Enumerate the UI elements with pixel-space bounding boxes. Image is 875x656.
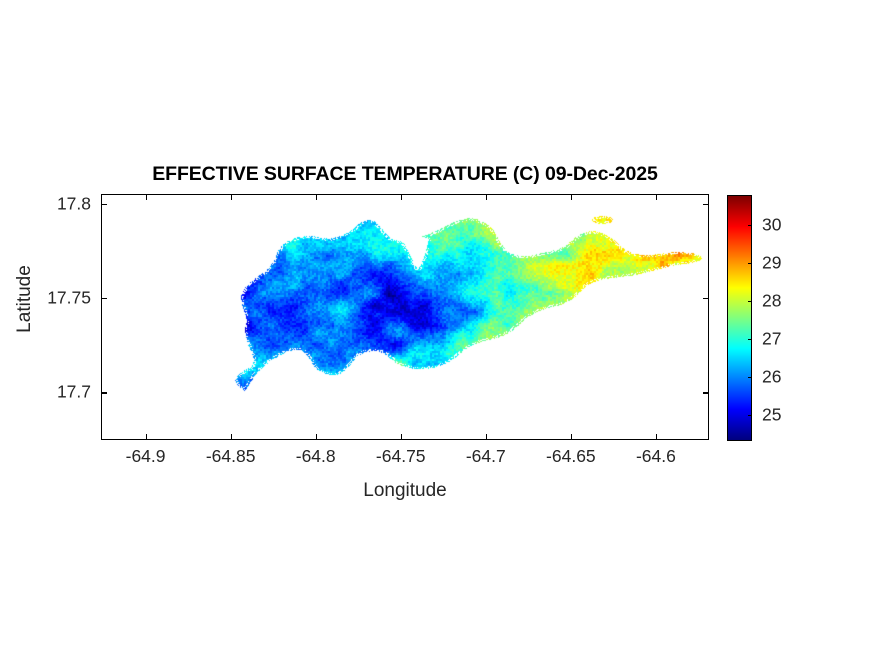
matlab-figure: EFFECTIVE SURFACE TEMPERATURE (C) 09-Dec…: [0, 0, 875, 656]
colorbar-tick-mark: [748, 377, 752, 378]
colorbar-tick-mark: [748, 225, 752, 226]
x-axis-label: Longitude: [101, 480, 709, 502]
colorbar-tick-mark: [748, 339, 752, 340]
x-tick-mark: [401, 434, 402, 440]
colorbar-tick-label: 30: [762, 214, 781, 235]
colorbar-tick-label: 28: [762, 290, 781, 311]
x-tick-mark: [571, 434, 572, 440]
colorbar-gradient: [728, 196, 751, 440]
y-tick-mark: [703, 392, 709, 393]
x-tick-mark: [231, 434, 232, 440]
y-tick-mark: [703, 204, 709, 205]
colorbar-tick-label: 27: [762, 328, 781, 349]
y-axis-label: Latitude: [14, 239, 36, 359]
y-tick-label: 17.8: [57, 193, 91, 214]
colorbar-tick-mark: [748, 301, 752, 302]
colorbar-tick-label: 29: [762, 252, 781, 273]
y-tick-mark: [101, 392, 107, 393]
x-tick-mark: [146, 194, 147, 200]
colorbar-tick-label: 26: [762, 367, 781, 388]
x-tick-label: -64.75: [376, 446, 426, 467]
colorbar-tick-label: 25: [762, 405, 781, 426]
x-tick-label: -64.6: [636, 446, 676, 467]
x-tick-mark: [571, 194, 572, 200]
x-tick-label: -64.85: [206, 446, 256, 467]
x-tick-mark: [656, 434, 657, 440]
x-tick-label: -64.8: [296, 446, 336, 467]
map-axes[interactable]: [101, 194, 709, 440]
x-tick-mark: [486, 434, 487, 440]
x-tick-mark: [486, 194, 487, 200]
x-tick-label: -64.65: [546, 446, 596, 467]
x-tick-mark: [656, 194, 657, 200]
x-tick-mark: [146, 434, 147, 440]
y-tick-mark: [703, 298, 709, 299]
x-tick-mark: [231, 194, 232, 200]
y-tick-mark: [101, 204, 107, 205]
y-tick-label: 17.75: [47, 288, 91, 309]
page-title: EFFECTIVE SURFACE TEMPERATURE (C) 09-Dec…: [101, 163, 709, 186]
temperature-heatmap[interactable]: [102, 195, 709, 440]
y-tick-label: 17.7: [57, 382, 91, 403]
x-tick-label: -64.7: [466, 446, 506, 467]
x-tick-label: -64.9: [126, 446, 166, 467]
colorbar-tick-mark: [748, 263, 752, 264]
colorbar[interactable]: [727, 195, 752, 441]
x-tick-mark: [316, 434, 317, 440]
y-tick-mark: [101, 298, 107, 299]
colorbar-tick-mark: [748, 415, 752, 416]
x-tick-mark: [316, 194, 317, 200]
x-tick-mark: [401, 194, 402, 200]
